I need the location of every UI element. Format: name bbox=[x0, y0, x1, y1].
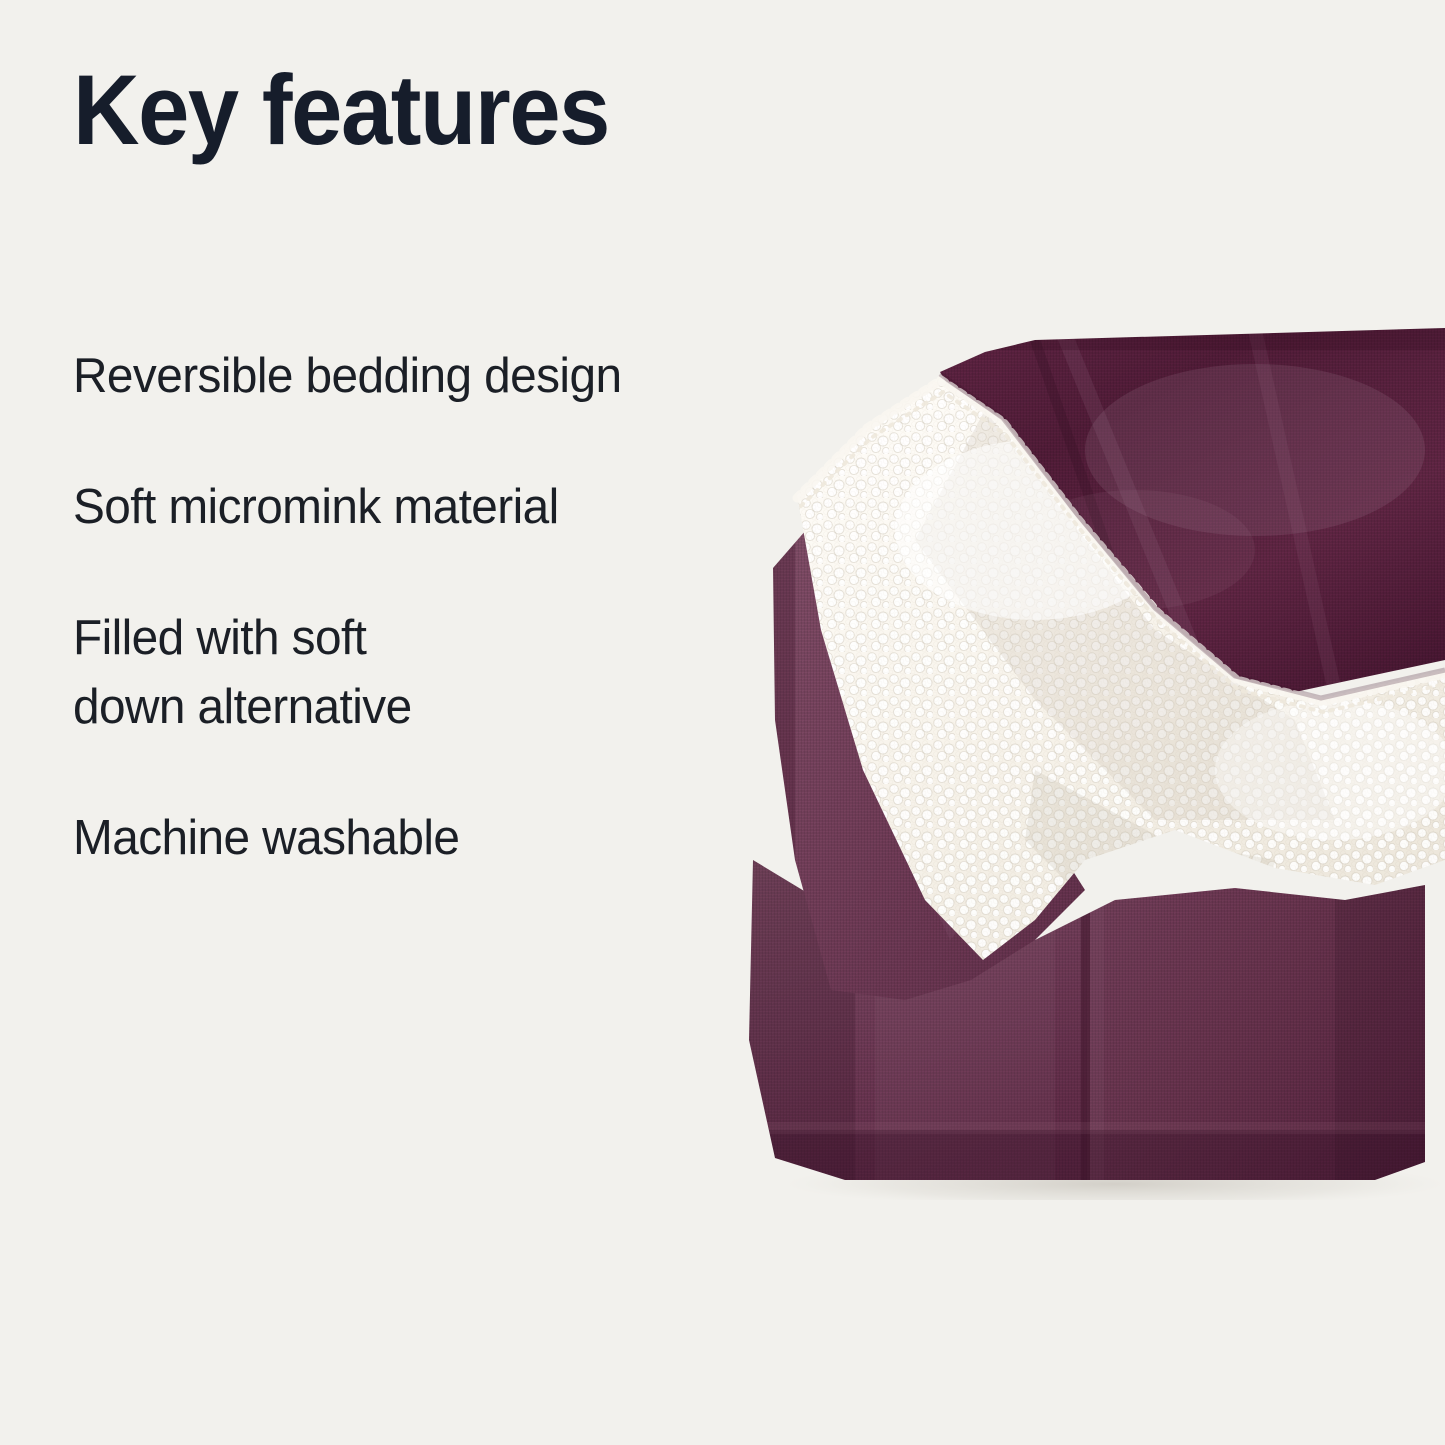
feature-item-filled-with-soft-down-alternative: Filled with soft down alternative bbox=[73, 604, 775, 742]
feature-item-reversible-bedding-design: Reversible bedding design bbox=[73, 342, 775, 411]
feature-item-soft-micromink-material: Soft micromink material bbox=[73, 473, 775, 542]
page-title: Key features bbox=[73, 60, 743, 159]
feature-item-machine-washable: Machine washable bbox=[73, 804, 775, 873]
feature-text-column: Key features Reversible bedding design S… bbox=[73, 60, 793, 159]
product-feature-card: Key features Reversible bedding design S… bbox=[0, 0, 1445, 1445]
product-photo-blanket bbox=[735, 300, 1445, 1200]
feature-list: Reversible bedding design Soft micromink… bbox=[73, 342, 793, 873]
blanket-illustration bbox=[735, 300, 1445, 1200]
